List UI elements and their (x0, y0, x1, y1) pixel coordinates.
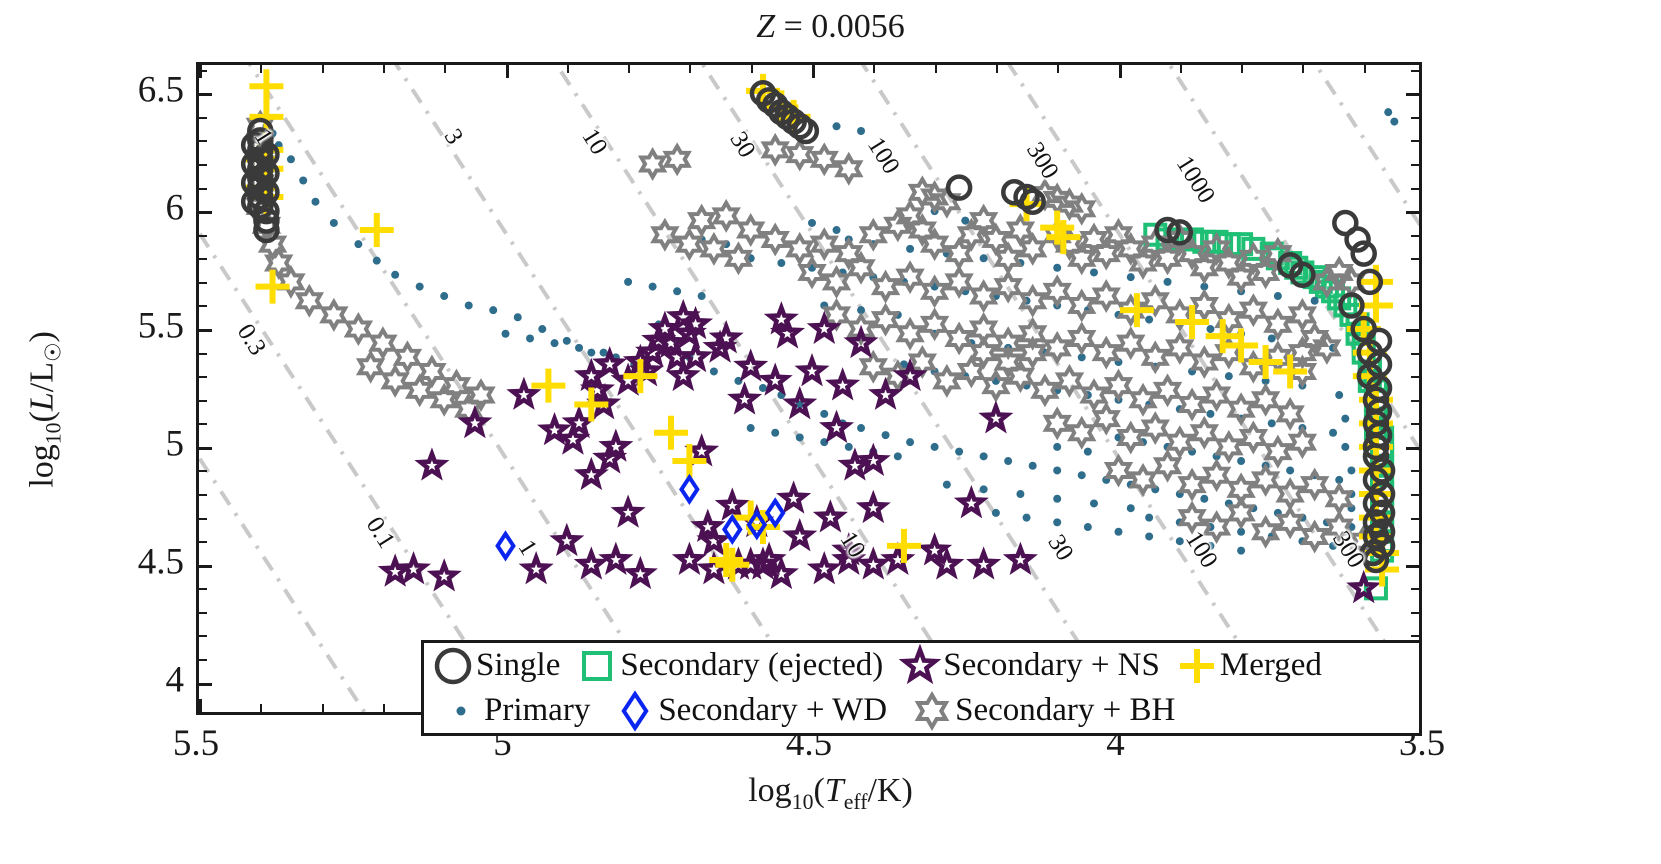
axis-tick (1411, 494, 1419, 496)
axis-tick (1411, 423, 1419, 425)
axis-tick (1411, 400, 1419, 402)
axis-tick (199, 188, 207, 190)
y-tick-label: 5.5 (84, 305, 184, 348)
axis-tick (199, 329, 212, 332)
axis-tick (1406, 447, 1419, 450)
legend-label: Secondary + NS (943, 647, 1160, 684)
y-axis-title: log10(L/L☉) (24, 149, 67, 669)
axis-tick (1241, 65, 1243, 73)
axis-tick (996, 65, 998, 73)
axis-tick (1302, 65, 1304, 73)
axis-tick (199, 683, 212, 686)
axis-tick (199, 470, 207, 472)
legend-label: Merged (1220, 647, 1322, 684)
legend-entry[interactable]: Single (430, 644, 560, 688)
axis-tick (1406, 211, 1419, 214)
axis-tick (322, 704, 324, 712)
legend[interactable]: SingleSecondary (ejected)Secondary + NSM… (421, 640, 1422, 736)
axis-tick (1411, 258, 1419, 260)
y-tick-label: 5 (84, 422, 184, 465)
axis-tick (1411, 376, 1419, 378)
legend-label: Primary (484, 692, 590, 729)
axis-tick (383, 65, 385, 73)
legend-entry[interactable]: Secondary (ejected) (574, 644, 883, 688)
legend-entry[interactable]: Primary (438, 689, 590, 733)
axis-tick (567, 65, 569, 73)
axis-tick (199, 93, 212, 96)
legend-label: Secondary + BH (955, 692, 1175, 729)
legend-entry[interactable]: Secondary + BH (909, 689, 1175, 733)
axis-tick (199, 258, 207, 260)
axis-tick (199, 235, 207, 237)
chart-title: Z = 0.0056 (0, 8, 1661, 46)
y-tick-label: 6 (84, 187, 184, 230)
axis-tick (1364, 65, 1366, 73)
axis-tick (199, 565, 212, 568)
axis-tick (199, 70, 207, 72)
axis-tick (935, 65, 937, 73)
axis-tick (1411, 188, 1419, 190)
axis-tick (1411, 140, 1419, 142)
axis-tick (199, 164, 207, 166)
axis-tick (199, 635, 207, 637)
title-value: 0.0056 (811, 8, 905, 45)
legend-marker-square-open-icon (574, 644, 620, 688)
axis-tick (1411, 235, 1419, 237)
axis-tick (199, 588, 207, 590)
axis-tick (506, 65, 509, 78)
legend-marker-diamond-open-icon (612, 689, 658, 733)
axis-tick (1119, 65, 1122, 78)
hr-diagram-figure: Z = 0.0056 0.10.311310103030100100300300… (0, 0, 1661, 864)
axis-tick (1411, 588, 1419, 590)
axis-tick (812, 65, 815, 78)
axis-tick (1411, 541, 1419, 543)
axis-tick (322, 65, 324, 73)
axis-tick (1411, 470, 1419, 472)
legend-label: Single (476, 647, 560, 684)
legend-marker-circle-open-icon (430, 644, 476, 688)
legend-row-2: PrimarySecondary + WDSecondary + BH (424, 688, 1419, 733)
axis-tick (199, 518, 207, 520)
legend-entry[interactable]: Merged (1174, 644, 1322, 688)
axis-tick (1411, 164, 1419, 166)
axis-tick (199, 400, 207, 402)
axis-tick (199, 376, 207, 378)
legend-marker-dot-icon (438, 689, 484, 733)
y-tick-label: 4 (84, 658, 184, 701)
axis-tick (1057, 65, 1059, 73)
axis-tick (199, 612, 207, 614)
axis-tick (873, 65, 875, 73)
axis-tick (751, 65, 753, 73)
y-tick-label: 6.5 (84, 69, 184, 112)
legend-label: Secondary (ejected) (620, 647, 883, 684)
axis-tick (199, 699, 202, 712)
axis-tick (199, 282, 207, 284)
axis-tick (199, 659, 207, 661)
legend-marker-star5-open-icon (897, 644, 943, 688)
axis-tick (1411, 117, 1419, 119)
y-tick-label: 4.5 (84, 540, 184, 583)
x-tick-label: 5.5 (173, 722, 219, 765)
legend-marker-plus-icon (1174, 644, 1220, 688)
legend-label: Secondary + WD (658, 692, 887, 729)
axis-tick (1406, 565, 1419, 568)
axis-tick (1406, 93, 1419, 96)
axis-tick (1411, 305, 1419, 307)
title-equals: = (775, 8, 811, 45)
axis-tick (1411, 282, 1419, 284)
axis-tick (1406, 329, 1419, 332)
x-axis-title: log10(Teff/K) (0, 772, 1661, 815)
axis-tick (1411, 612, 1419, 614)
axis-tick (199, 117, 207, 119)
axis-tick (383, 704, 385, 712)
title-symbol: Z (756, 8, 775, 45)
axis-tick (444, 65, 446, 73)
axis-tick (199, 541, 207, 543)
axis-tick (1411, 70, 1419, 72)
axis-tick (1411, 635, 1419, 637)
axis-tick (689, 65, 691, 73)
axis-tick (199, 423, 207, 425)
axis-tick (199, 353, 207, 355)
axis-tick (1180, 65, 1182, 73)
legend-row-1: SingleSecondary (ejected)Secondary + NSM… (424, 643, 1419, 688)
axis-tick (199, 494, 207, 496)
axis-tick (1411, 353, 1419, 355)
axis-tick (199, 140, 207, 142)
legend-entry[interactable]: Secondary + WD (612, 689, 887, 733)
axis-tick (260, 704, 262, 712)
plot-area (196, 62, 1422, 715)
legend-marker-star6-open-icon (909, 689, 955, 733)
legend-entry[interactable]: Secondary + NS (897, 644, 1160, 688)
axis-tick (628, 65, 630, 73)
axis-tick (199, 211, 212, 214)
scatter-markers (199, 65, 1422, 715)
axis-tick (260, 65, 262, 73)
axis-tick (1411, 518, 1419, 520)
axis-tick (199, 305, 207, 307)
axis-tick (199, 447, 212, 450)
